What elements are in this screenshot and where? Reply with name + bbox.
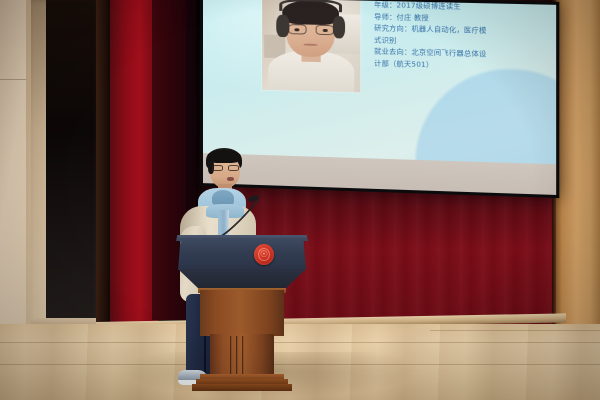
slide-text-block: 年级：2017级硕博连读生 导师：付庄 教授 研究方向：机器人自动化，医疗模 式… bbox=[374, 0, 552, 74]
gooseneck-microphone bbox=[214, 196, 266, 240]
podium-groove-1 bbox=[230, 336, 232, 376]
podium-neck bbox=[200, 290, 284, 336]
presenter-mouth bbox=[227, 177, 234, 181]
photo-person-eye-right bbox=[323, 29, 328, 32]
curtain-panel-bright bbox=[110, 0, 158, 327]
slide-decorative-circle bbox=[416, 67, 557, 165]
photo-person-eye-left bbox=[294, 28, 299, 31]
university-seal-emblem: ☉ bbox=[254, 244, 274, 265]
seal-glyph-icon: ☉ bbox=[254, 244, 274, 265]
right-wood-column bbox=[556, 0, 600, 345]
photo-person-mouth bbox=[304, 43, 318, 46]
podium-groove-3 bbox=[242, 336, 244, 376]
headphone-earcup-right-icon bbox=[332, 16, 345, 39]
presenter-glasses bbox=[212, 165, 239, 171]
podium-top-panel bbox=[178, 238, 306, 270]
podium-groove-2 bbox=[236, 336, 238, 376]
left-wall-panel bbox=[0, 0, 28, 348]
projected-slide: 年级：2017级硕博连读生 导师：付庄 教授 研究方向：机器人自动化，医疗模 式… bbox=[203, 0, 556, 165]
slide-portrait-photo bbox=[262, 0, 360, 92]
podium-base-step-3 bbox=[192, 384, 292, 391]
wall-slat-shading bbox=[31, 0, 99, 325]
headphone-band-icon bbox=[280, 0, 343, 12]
presentation-scene: 年级：2017级硕博连读生 导师：付庄 教授 研究方向：机器人自动化，医疗模 式… bbox=[0, 0, 600, 400]
podium: ☉ bbox=[178, 238, 306, 390]
